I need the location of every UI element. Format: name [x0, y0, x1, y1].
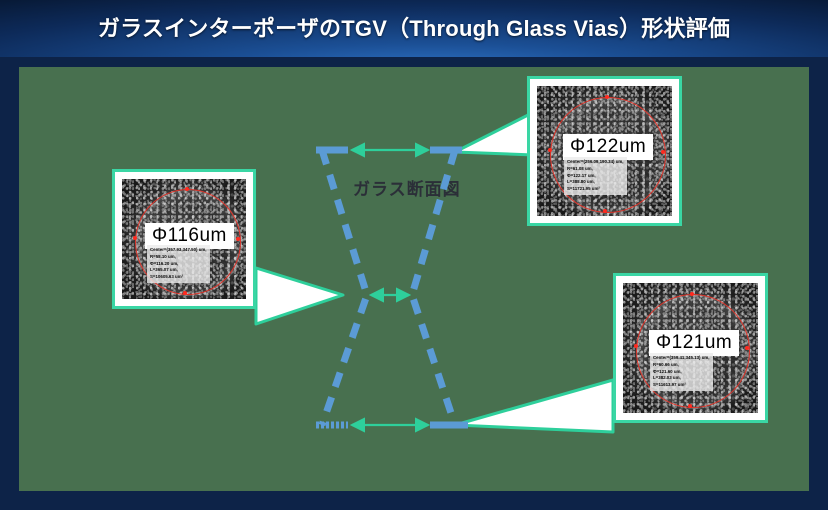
fit-point: [603, 209, 607, 213]
fit-point: [688, 404, 692, 408]
slide-header: ガラスインターポーザのTGV（Through Glass Vias）形状評価: [0, 0, 828, 57]
metric-diameter: Φ=121.60 um,: [653, 369, 710, 376]
metric-length: L=365.07 um,: [150, 267, 207, 274]
fit-point: [236, 237, 240, 241]
metric-diameter: Φ=122.17 um,: [567, 173, 624, 180]
fit-point: [745, 346, 749, 350]
slide-root: ガラスインターポーザのTGV（Through Glass Vias）形状評価 ガ…: [0, 0, 828, 510]
fit-point: [185, 187, 189, 191]
fit-point: [133, 236, 137, 240]
fit-point: [661, 150, 665, 154]
measurement-readout: Center=(256.09,190.34) um, R=61.08 um, Φ…: [564, 157, 627, 195]
fit-point: [605, 95, 609, 99]
fit-point: [183, 291, 187, 295]
metric-radius: R=58.10 um,: [150, 254, 207, 261]
micrograph-image-122um: Φ122um Center=(256.09,190.34) um, R=61.0…: [537, 86, 672, 216]
metric-area: S=11613.97 um²: [653, 382, 710, 389]
micrograph-panel-121um[interactable]: Φ121um Center=(359.41,345.13) um, R=60.6…: [613, 273, 768, 423]
cross-section-label: ガラス断面図: [353, 175, 461, 200]
micrograph-image-121um: Φ121um Center=(359.41,345.13) um, R=60.6…: [623, 283, 758, 413]
metric-area: S=11721.95 um²: [567, 186, 624, 193]
micrograph-image-116um: Φ116um Center=(357.93,347.50) um, R=58.1…: [122, 179, 246, 299]
metric-center: Center=(256.09,190.34) um,: [567, 159, 624, 166]
metric-diameter: Φ=116.20 um,: [150, 261, 207, 268]
metric-center: Center=(357.93,347.50) um,: [150, 247, 207, 254]
measurement-readout: Center=(357.93,347.50) um, R=58.10 um, Φ…: [147, 245, 210, 283]
page-title: ガラスインターポーザのTGV（Through Glass Vias）形状評価: [0, 11, 828, 43]
metric-center: Center=(359.41,345.13) um,: [653, 355, 710, 362]
metric-area: S=10605.63 um²: [150, 274, 207, 281]
metric-length: L=382.03 um,: [653, 375, 710, 382]
measurement-readout: Center=(359.41,345.13) um, R=60.66 um, Φ…: [650, 353, 713, 391]
metric-radius: R=60.66 um,: [653, 362, 710, 369]
fit-point: [690, 292, 694, 296]
metric-radius: R=61.08 um,: [567, 166, 624, 173]
fit-point: [634, 344, 638, 348]
metric-length: L=388.80 um,: [567, 179, 624, 186]
micrograph-panel-116um[interactable]: Φ116um Center=(357.93,347.50) um, R=58.1…: [112, 169, 256, 309]
micrograph-panel-122um[interactable]: Φ122um Center=(256.09,190.34) um, R=61.0…: [527, 76, 682, 226]
fit-point: [548, 148, 552, 152]
